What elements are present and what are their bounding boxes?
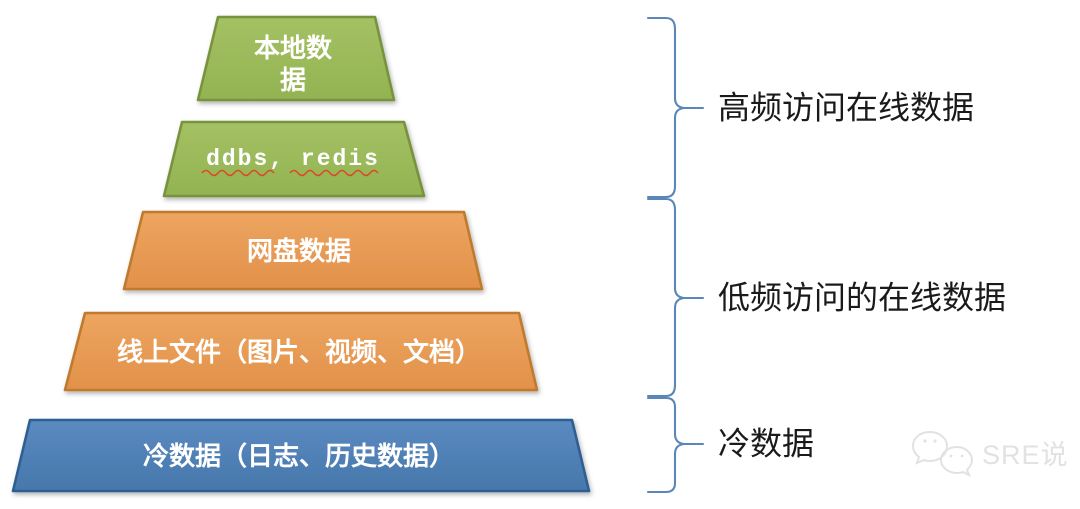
layer-label-cold-data: 冷数据（日志、历史数据） [143,441,455,471]
pyramid-diagram: 本地数 据 ddbs, redis 网盘数据 线上文件（图片、视频、文档） 冷数… [0,0,1080,509]
curly-brace-icon [648,199,684,396]
pyramid-layer-cold-data[interactable]: 冷数据（日志、历史数据） [13,420,589,491]
layer-label-local-data-line2: 据 [280,65,306,95]
pyramid-layer-ddbs-redis[interactable]: ddbs, redis [164,122,424,196]
bracket-label-high-frequency: 高频访问在线数据 [718,89,974,125]
layer-label-netdisk-data: 网盘数据 [247,236,351,266]
layer-label-online-files: 线上文件（图片、视频、文档） [117,337,481,367]
pyramid-layer-netdisk-data[interactable]: 网盘数据 [124,212,482,289]
watermark: SRE说 [913,432,1069,475]
layer-label-local-data-line1: 本地数 [254,33,333,63]
pyramid-layer-online-files[interactable]: 线上文件（图片、视频、文档） [65,313,537,390]
bracket-high-frequency[interactable]: 高频访问在线数据 [648,18,974,197]
pyramid-layer-local-data[interactable]: 本地数 据 [198,17,394,100]
curly-brace-icon [648,398,684,492]
wechat-icon [913,432,972,475]
curly-brace-icon [648,18,684,197]
layer-label-ddbs-redis: ddbs, redis [206,146,380,172]
bracket-label-cold: 冷数据 [718,425,814,461]
bracket-low-frequency[interactable]: 低频访问的在线数据 [648,199,1006,396]
watermark-text: SRE说 [982,440,1069,470]
bracket-cold[interactable]: 冷数据 [648,398,814,492]
bracket-label-low-frequency: 低频访问的在线数据 [718,279,1006,315]
